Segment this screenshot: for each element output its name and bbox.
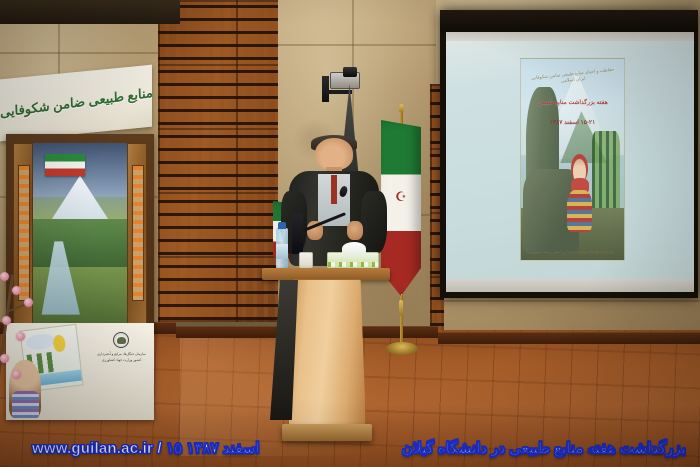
forest-org-emblem-icon: [113, 332, 129, 348]
screen-surface: حفاظت و احیای منابع طبیعی ضامن شکوفایی ا…: [446, 32, 694, 292]
photograph: حفاظت و احیای منابع طبیعی ضامن شکوفایی ا…: [0, 0, 700, 467]
left-banner: حفظ و احیای منابع طبیعی ضامن شکوفایی ایر…: [0, 72, 162, 420]
stone-seam: [278, 44, 438, 46]
poster-forest: [592, 131, 621, 219]
lectern-top: [262, 268, 390, 280]
poster-child-body: [567, 190, 591, 232]
blossom-branch: [0, 270, 50, 390]
microphone-mount: [292, 214, 303, 254]
lectern-base: [282, 424, 372, 441]
camera-lens-icon: [343, 67, 357, 77]
stone-seam: [436, 300, 700, 302]
organization-logo-text: سازمان جنگل‌ها، مراتع و آبخیزداری کشور و…: [96, 352, 146, 364]
organization-logo: سازمان جنگل‌ها، مراتع و آبخیزداری کشور و…: [96, 332, 146, 408]
blossom-flower: [0, 272, 9, 281]
blossom-flower: [24, 298, 33, 307]
stone-seam: [0, 52, 160, 54]
wall-mounted-camera: [322, 68, 366, 110]
banner-window-shutter-right: [127, 143, 147, 326]
poster-date: ۱۵-۲۱ اسفند ۱۳۸۷: [528, 119, 618, 126]
poster-footer: سازمان جنگل‌ها، مراتع و آبخیزداری کشور ر…: [530, 250, 616, 256]
blossom-flower: [0, 354, 9, 363]
bottle-label: [276, 244, 288, 259]
tissue-box-stripe: [328, 262, 378, 267]
bottle-cap[interactable]: [278, 222, 286, 229]
poster-child: [566, 159, 593, 231]
camera-body: [330, 72, 360, 89]
ceiling-shadow: [0, 0, 180, 24]
projected-poster: حفاظت و احیای منابع طبیعی ضامن شکوفایی ا…: [520, 58, 624, 261]
baseboard-right: [438, 332, 700, 344]
camera-arm: [326, 90, 352, 94]
projection-screen: حفاظت و احیای منابع طبیعی ضامن شکوفایی ا…: [440, 10, 698, 298]
speaker-tie: [331, 175, 337, 204]
blossom-flower: [2, 316, 11, 325]
banner-slogan-panel: حفظ و احیای منابع طبیعی ضامن شکوفایی ایر…: [0, 65, 152, 142]
banner-slogan-text: حفظ و احیای منابع طبیعی ضامن شکوفایی ایر…: [0, 65, 152, 142]
tissue-sheet: [342, 242, 366, 255]
blossom-flower: [12, 286, 21, 295]
lectern-body[interactable]: [288, 279, 366, 427]
iran-emblem-icon: ☪: [392, 190, 410, 225]
blossom-flower: [16, 332, 25, 341]
flag-base: [386, 342, 418, 355]
screen-top-margin: [446, 32, 694, 41]
drawing-sun: [52, 334, 66, 352]
speaker-head: [315, 138, 354, 170]
flag-tassel: [399, 300, 403, 316]
poster-title: هفته بزرگداشت منابع طبیعی: [528, 99, 618, 108]
iran-flag-icon: [45, 154, 85, 176]
screen-housing: [440, 10, 698, 32]
screen-bottom-margin: [446, 279, 694, 292]
speaker-hand-right: [347, 221, 362, 239]
blossom-flower: [12, 370, 21, 379]
